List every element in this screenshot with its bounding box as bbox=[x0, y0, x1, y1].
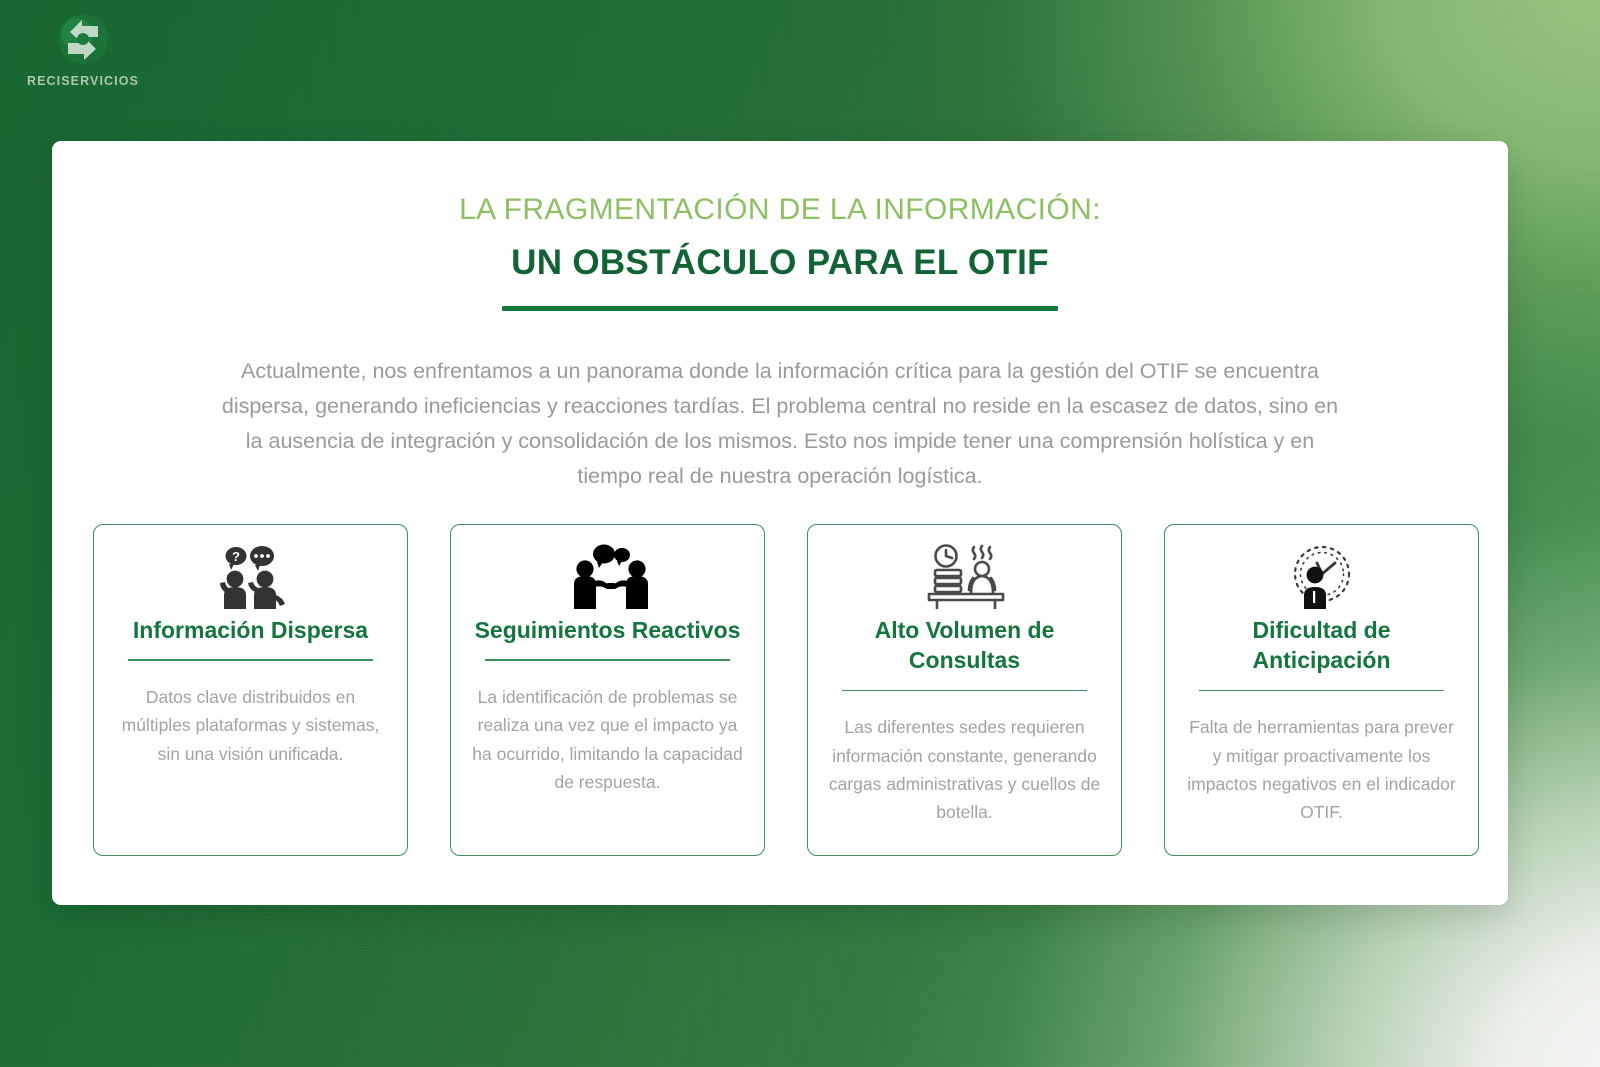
page-title: UN OBSTÁCULO PARA EL OTIF bbox=[52, 244, 1508, 283]
section-kicker: LA FRAGMENTACIÓN DE LA INFORMACIÓN: bbox=[52, 193, 1508, 226]
person-in-front-of-clock-icon bbox=[1282, 541, 1362, 611]
card-dificultad-anticipacion[interactable]: Dificultad de Anticipación Falta de herr… bbox=[1164, 524, 1479, 856]
card-seguimientos-reactivos[interactable]: Seguimientos Reactivos La identificación… bbox=[450, 524, 765, 856]
intro-paragraph: Actualmente, nos enfrentamos a un panora… bbox=[220, 354, 1340, 494]
card-title: Información Dispersa bbox=[127, 615, 374, 645]
svg-text:?: ? bbox=[232, 549, 240, 564]
card-informacion-dispersa[interactable]: ? Informaci bbox=[93, 524, 408, 856]
card-body: La identificación de problemas se realiz… bbox=[465, 683, 750, 796]
card-body: Las diferentes sedes requieren informaci… bbox=[822, 713, 1107, 826]
recycling-arrows-icon bbox=[46, 12, 120, 72]
card-body: Datos clave distribuidos en múltiples pl… bbox=[108, 683, 393, 768]
card-alto-volumen-consultas[interactable]: Alto Volumen de Consultas Las diferentes… bbox=[807, 524, 1122, 856]
two-people-speech-bubbles-icon: ? bbox=[205, 541, 297, 611]
content-panel: LA FRAGMENTACIÓN DE LA INFORMACIÓN: UN O… bbox=[52, 141, 1508, 905]
people-handshake-discussion-icon bbox=[560, 541, 656, 611]
card-divider bbox=[485, 659, 730, 661]
card-divider bbox=[842, 690, 1087, 692]
brand-name: RECISERVICIOS bbox=[18, 74, 148, 88]
card-divider bbox=[1199, 690, 1444, 692]
card-title: Dificultad de Anticipación bbox=[1179, 615, 1464, 676]
title-underline bbox=[502, 306, 1058, 311]
clock-paperwork-overload-icon bbox=[919, 541, 1011, 611]
card-title: Seguimientos Reactivos bbox=[469, 615, 747, 645]
problem-card-row: ? Informaci bbox=[93, 524, 1479, 856]
brand-logo: RECISERVICIOS bbox=[18, 12, 148, 88]
card-title: Alto Volumen de Consultas bbox=[822, 615, 1107, 676]
card-body: Falta de herramientas para prever y miti… bbox=[1179, 713, 1464, 826]
card-divider bbox=[128, 659, 373, 661]
